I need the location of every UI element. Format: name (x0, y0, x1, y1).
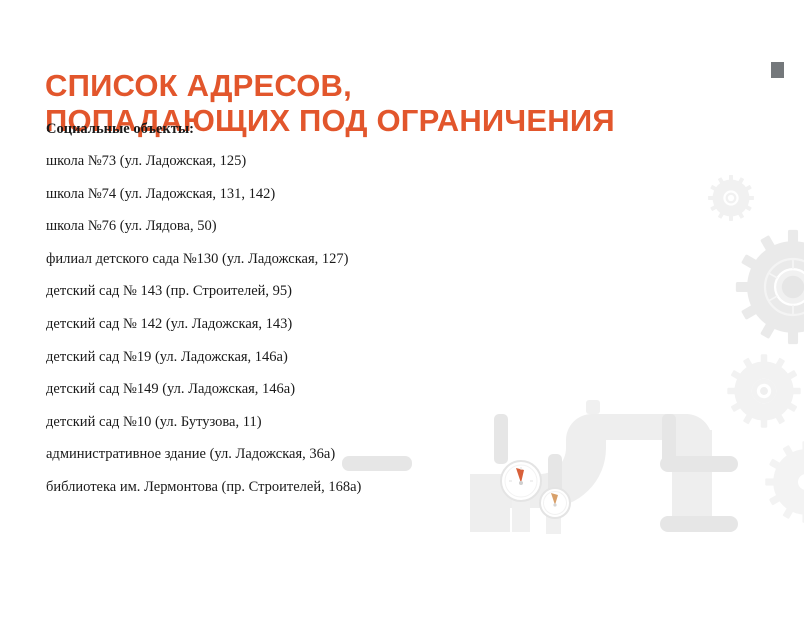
list-item: детский сад №149 (ул. Ладожская, 146а) (46, 380, 646, 398)
list-item: детский сад № 142 (ул. Ладожская, 143) (46, 315, 646, 333)
address-list: школа №73 (ул. Ладожская, 125) школа №74… (46, 152, 646, 496)
pipe-flange-vertical-2 (662, 414, 676, 464)
slide-canvas: СПИСОК АДРЕСОВ, ПОПАДАЮЩИХ ПОД ОГРАНИЧЕН… (0, 0, 804, 640)
corner-square-marker (771, 62, 784, 78)
gauge-stem-2 (546, 508, 561, 534)
section-heading: Социальные объекты: (46, 120, 646, 138)
list-item: детский сад № 143 (пр. Строителей, 95) (46, 282, 646, 300)
list-item: детский сад №10 (ул. Бутузова, 11) (46, 413, 646, 431)
list-item: школа №74 (ул. Ладожская, 131, 142) (46, 185, 646, 203)
list-item: школа №76 (ул. Лядова, 50) (46, 217, 646, 235)
content-block: Социальные объекты: школа №73 (ул. Ладож… (46, 120, 646, 511)
gear-edge-bottom-icon (765, 441, 804, 523)
list-item: детский сад №19 (ул. Ладожская, 146а) (46, 348, 646, 366)
list-item: школа №73 (ул. Ладожская, 125) (46, 152, 646, 170)
list-item: библиотека им. Лермонтова (пр. Строителе… (46, 478, 646, 496)
gear-medium-lower-icon (727, 354, 800, 427)
list-item: административное здание (ул. Ладожская, … (46, 445, 646, 463)
list-item: филиал детского сада №130 (ул. Ладожская… (46, 250, 646, 268)
pipe-flange-horizontal-2 (660, 456, 738, 472)
pipe-flange-horizontal-3 (660, 516, 738, 532)
gear-small-top-icon (708, 175, 754, 221)
gear-large-right-icon (736, 230, 804, 344)
